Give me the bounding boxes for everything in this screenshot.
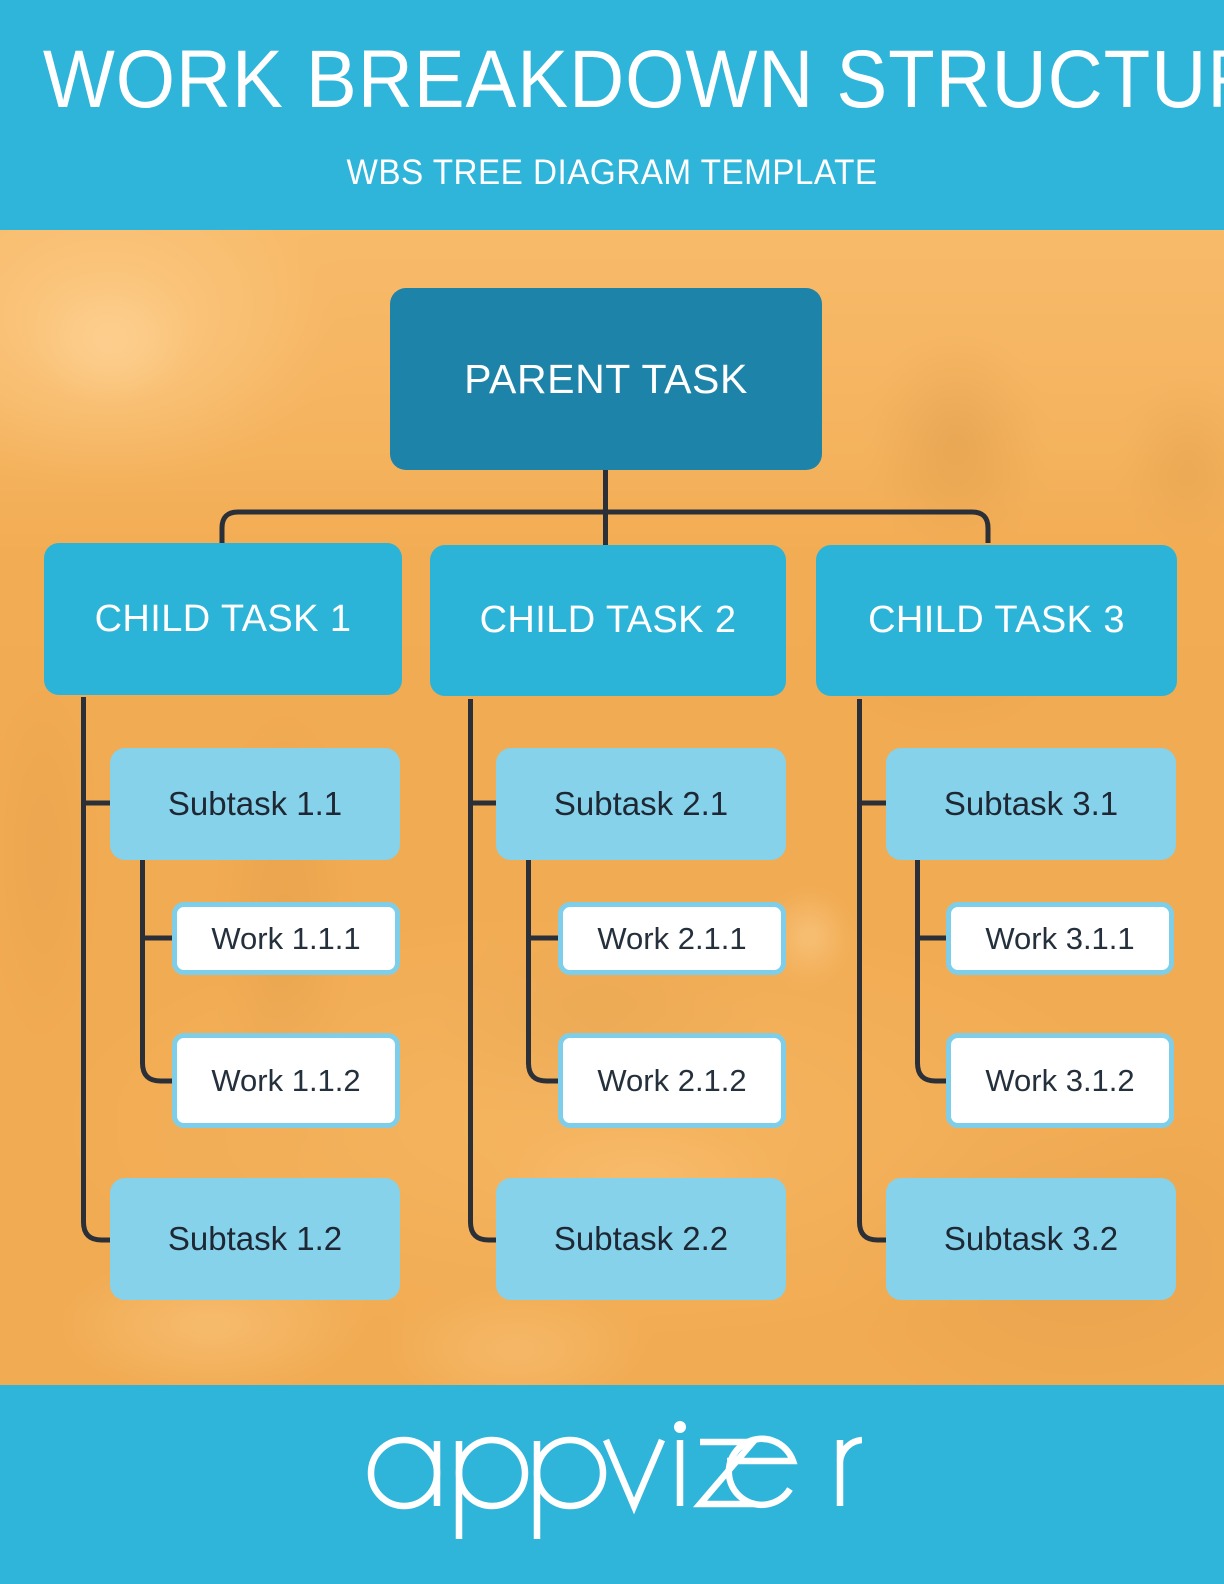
- node-subtask-3-2[interactable]: Subtask 3.2: [886, 1178, 1176, 1300]
- appvizer-wordmark-icon: [362, 1421, 862, 1541]
- node-subtask-1-1[interactable]: Subtask 1.1: [110, 748, 400, 860]
- node-child-task-1[interactable]: CHILD TASK 1: [44, 543, 402, 695]
- node-parent-task[interactable]: PARENT TASK: [390, 288, 822, 470]
- node-work-2-1-2[interactable]: Work 2.1.2: [558, 1033, 786, 1128]
- header-band: WORK BREAKDOWN STRUCTURE WBS TREE DIAGRA…: [0, 0, 1224, 230]
- node-work-1-1-2[interactable]: Work 1.1.2: [172, 1033, 400, 1128]
- wbs-poster: WORK BREAKDOWN STRUCTURE WBS TREE DIAGRA…: [0, 0, 1224, 1584]
- node-child-task-2[interactable]: CHILD TASK 2: [430, 545, 786, 696]
- appvizer-logo: [0, 1421, 1224, 1541]
- page-title: WORK BREAKDOWN STRUCTURE: [43, 34, 1181, 126]
- node-work-3-1-2[interactable]: Work 3.1.2: [946, 1033, 1174, 1128]
- footer-band: [0, 1385, 1224, 1584]
- node-subtask-3-1[interactable]: Subtask 3.1: [886, 748, 1176, 860]
- appvizer-logo-dot: [674, 1421, 686, 1433]
- node-work-3-1-1[interactable]: Work 3.1.1: [946, 902, 1174, 975]
- node-subtask-2-1[interactable]: Subtask 2.1: [496, 748, 786, 860]
- node-subtask-2-2[interactable]: Subtask 2.2: [496, 1178, 786, 1300]
- node-work-2-1-1[interactable]: Work 2.1.1: [558, 902, 786, 975]
- node-subtask-1-2[interactable]: Subtask 1.2: [110, 1178, 400, 1300]
- node-work-1-1-1[interactable]: Work 1.1.1: [172, 902, 400, 975]
- page-subtitle: WBS TREE DIAGRAM TEMPLATE: [31, 152, 1194, 194]
- node-child-task-3[interactable]: CHILD TASK 3: [816, 545, 1177, 696]
